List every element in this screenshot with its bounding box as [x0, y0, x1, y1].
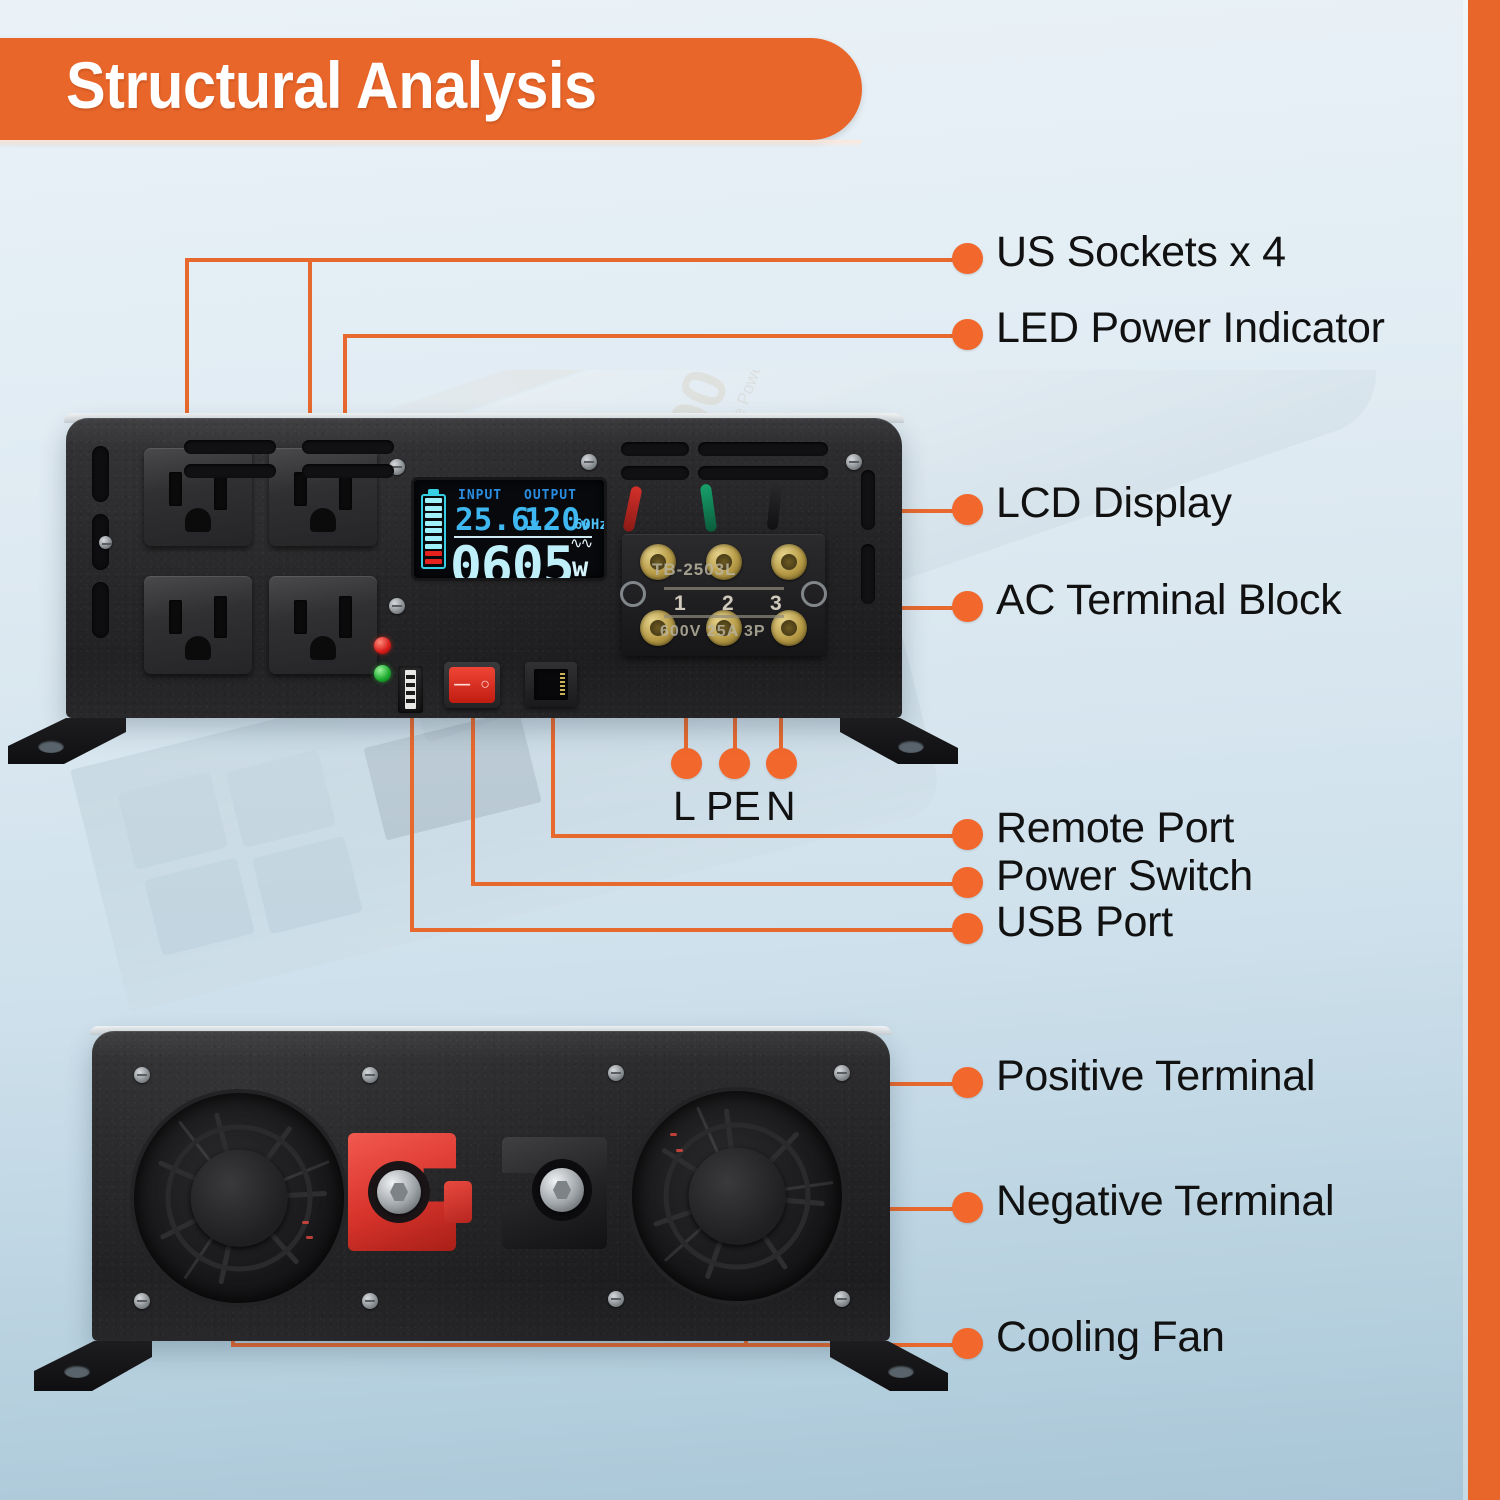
us-socket-2[interactable] — [269, 448, 377, 546]
vent-slot — [621, 466, 689, 480]
cooling-fan-right — [632, 1091, 842, 1301]
callout-dot-us-sockets[interactable] — [952, 243, 983, 274]
lcd-power-unit: w — [572, 552, 588, 578]
lcd-power-value: 0605 — [450, 536, 574, 578]
inverter-rear-panel — [92, 1031, 890, 1341]
callout-line-switch-drop — [471, 690, 475, 886]
switch-off-symbol: — — [454, 677, 470, 693]
wire-live — [622, 485, 642, 532]
callout-label-remote-port: Remote Port — [996, 804, 1234, 853]
callout-label-positive-terminal: Positive Terminal — [996, 1052, 1315, 1101]
callout-label-negative-terminal: Negative Terminal — [996, 1177, 1334, 1226]
infographic-canvas: 3000W Pure Sine Wave Power Inverter Stru… — [0, 0, 1500, 1500]
callout-dot-pin-n[interactable] — [766, 748, 797, 779]
callout-dot-pin-l[interactable] — [671, 748, 702, 779]
negative-terminal-bolt[interactable] — [540, 1168, 584, 1212]
switch-on-symbol: ○ — [480, 677, 490, 693]
vent-slot — [302, 464, 394, 478]
callout-dot-usb-port[interactable] — [952, 913, 983, 944]
callout-dot-remote-port[interactable] — [952, 819, 983, 850]
callout-label-usb-port: USB Port — [996, 898, 1173, 947]
callout-dot-pin-pe[interactable] — [719, 748, 750, 779]
terminal-mount-right — [801, 581, 827, 607]
rear-mounting-foot-left — [34, 1341, 152, 1391]
vent-slot — [861, 470, 875, 530]
mounting-foot-left — [8, 718, 126, 764]
ac-terminal-block[interactable]: TB-2503L 1 2 3 600V 25A 3P — [622, 534, 825, 656]
callout-label-cooling-fan: Cooling Fan — [996, 1313, 1225, 1362]
terminal-screw-3-top[interactable] — [771, 544, 807, 580]
vent-slot — [861, 544, 875, 604]
callout-dot-cooling-fan[interactable] — [952, 1328, 983, 1359]
rear-mounting-foot-right — [830, 1341, 948, 1391]
terminal-position-3: 3 — [770, 592, 782, 616]
us-socket-3[interactable] — [144, 576, 252, 674]
callout-dot-power-switch[interactable] — [952, 867, 983, 898]
negative-terminal-well — [532, 1159, 592, 1221]
led-power-green — [374, 665, 391, 682]
vent-slot — [302, 440, 394, 454]
rear-screw-tl — [134, 1067, 150, 1083]
rear-screw-tm — [362, 1067, 378, 1083]
terminal-model-text: TB-2503L — [652, 560, 737, 580]
lcd-input-label: INPUT — [458, 488, 502, 503]
sine-wave-icon: ∿∿ — [570, 534, 591, 552]
lcd-output-label: OUTPUT — [524, 488, 577, 503]
callout-line-us-sockets — [185, 258, 960, 262]
callout-dot-lcd-display[interactable] — [952, 494, 983, 525]
callout-dot-negative-terminal[interactable] — [952, 1192, 983, 1223]
rear-screw-bm — [362, 1293, 378, 1309]
terminal-mount-left — [620, 581, 646, 607]
callout-label-lcd-display: LCD Display — [996, 479, 1232, 528]
callout-line-led-indicator — [343, 334, 960, 338]
right-edge-stripe — [1468, 0, 1500, 1500]
power-switch[interactable]: — ○ — [444, 662, 500, 708]
callout-line-usb-drop — [410, 685, 414, 930]
callout-line-remote-port — [551, 834, 960, 838]
callout-dot-ac-terminal[interactable] — [952, 591, 983, 622]
rear-screw-tr — [834, 1065, 850, 1081]
callout-label-ac-terminal: AC Terminal Block — [996, 576, 1341, 625]
remote-port-icon[interactable] — [525, 662, 577, 707]
rear-screw-bl — [134, 1293, 150, 1309]
led-power-red — [374, 637, 391, 654]
lcd-frequency: 60Hz — [574, 517, 604, 533]
inverter-front-panel: INPUT OUTPUT 25.6v 120v 60Hz 0605 w ∿∿ —… — [66, 418, 902, 718]
lcd-display: INPUT OUTPUT 25.6v 120v 60Hz 0605 w ∿∿ — [414, 480, 604, 578]
vent-slot — [698, 466, 828, 480]
terminal-rating-text: 600V 25A 3P — [660, 623, 766, 641]
wire-neutral — [767, 482, 783, 531]
callout-dot-led-indicator[interactable] — [952, 319, 983, 350]
rear-screw-br — [834, 1291, 850, 1307]
pin-label-l: L — [673, 783, 696, 830]
positive-terminal-tab — [444, 1181, 472, 1223]
pin-label-pe: PE — [706, 783, 761, 830]
callout-dot-positive-terminal[interactable] — [952, 1067, 983, 1098]
mounting-foot-right — [840, 718, 958, 764]
vent-slot — [698, 442, 828, 456]
us-socket-1[interactable] — [144, 448, 252, 546]
callout-label-led-indicator: LED Power Indicator — [996, 304, 1385, 353]
callout-label-us-sockets: US Sockets x 4 — [996, 228, 1286, 277]
pin-label-n: N — [766, 783, 796, 830]
page-title: Structural Analysis — [66, 47, 597, 123]
vent-slot — [621, 442, 689, 456]
terminal-position-2: 2 — [722, 592, 734, 616]
panel-screw-tr — [846, 454, 862, 470]
wire-earth — [700, 483, 718, 532]
callout-label-power-switch: Power Switch — [996, 852, 1253, 901]
battery-level-icon — [421, 489, 446, 569]
terminal-position-1: 1 — [674, 592, 686, 616]
panel-screw-bl — [389, 598, 405, 614]
header-banner-shadow — [0, 140, 862, 147]
rear-screw-bm2 — [608, 1291, 624, 1307]
rear-screw-tm2 — [608, 1065, 624, 1081]
positive-terminal-bolt[interactable] — [377, 1170, 421, 1214]
callout-line-usb-port — [410, 928, 960, 932]
usb-port-icon[interactable] — [398, 666, 423, 713]
panel-screw-mid — [581, 454, 597, 470]
cooling-fan-left — [134, 1093, 344, 1303]
us-socket-4[interactable] — [269, 576, 377, 674]
positive-terminal-well — [368, 1161, 430, 1223]
callout-line-power-switch — [471, 882, 960, 886]
vent-screw — [99, 536, 112, 549]
